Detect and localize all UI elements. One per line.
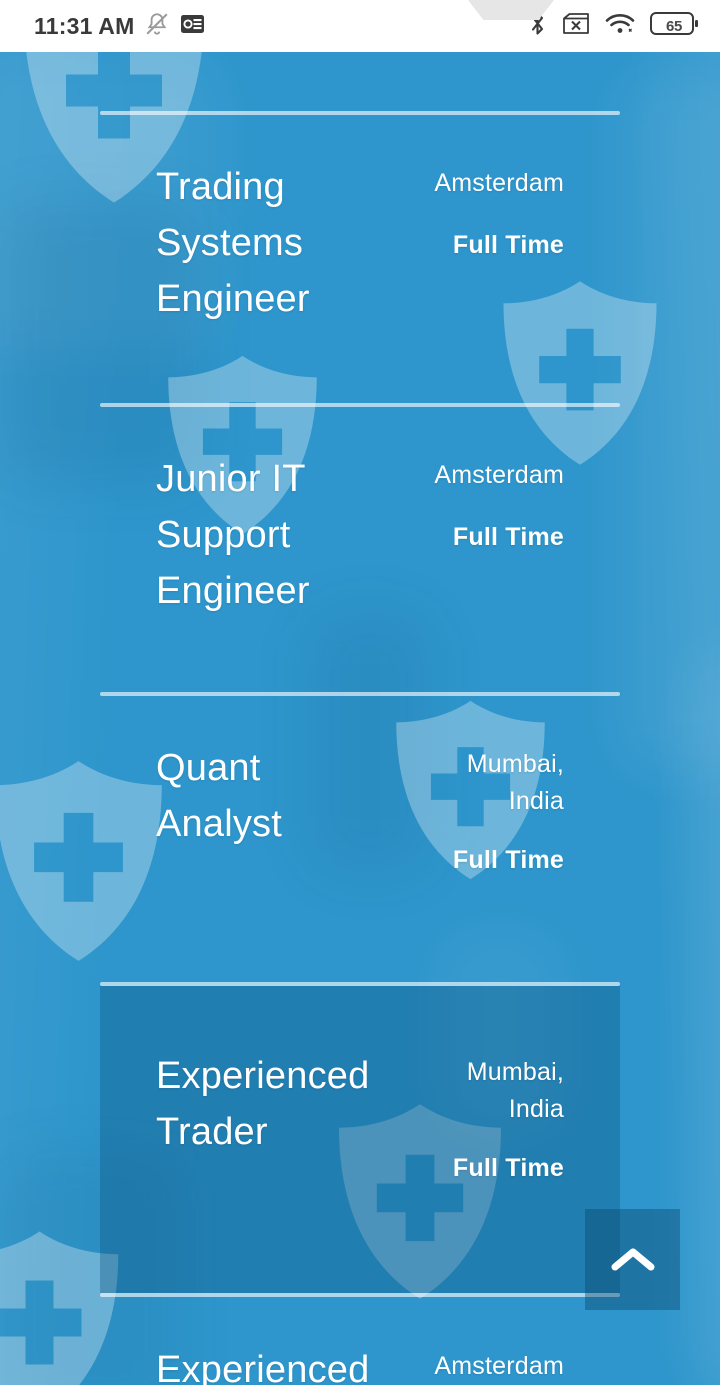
job-meta: Amsterdam bbox=[414, 1348, 564, 1385]
job-title: Quant Analyst bbox=[156, 740, 356, 852]
job-meta: Mumbai, India Full Time bbox=[414, 746, 564, 875]
battery-level-label: 65 bbox=[650, 11, 698, 41]
job-type: Full Time bbox=[414, 231, 564, 260]
job-title: Experienced bbox=[156, 1342, 369, 1385]
job-list-item[interactable]: Experienced Amsterdam bbox=[100, 1297, 620, 1385]
job-meta: Amsterdam Full Time bbox=[414, 457, 564, 552]
job-list-item[interactable]: Trading Systems Engineer Amsterdam Full … bbox=[100, 115, 620, 368]
job-meta: Amsterdam Full Time bbox=[414, 165, 564, 260]
chevron-up-icon bbox=[610, 1245, 656, 1275]
job-list-item[interactable]: Junior IT Support Engineer Amsterdam Ful… bbox=[100, 407, 620, 660]
status-bar-left: 11:31 AM bbox=[34, 11, 205, 42]
job-meta: Mumbai, India Full Time bbox=[414, 1054, 564, 1183]
job-location: Amsterdam bbox=[414, 1348, 564, 1385]
battery-icon: 65 bbox=[650, 11, 698, 41]
phone-screen: 11:31 AM bbox=[0, 0, 720, 1385]
bell-muted-icon bbox=[144, 11, 170, 42]
job-location: Mumbai, India bbox=[444, 1054, 564, 1127]
job-location: Mumbai, India bbox=[444, 746, 564, 819]
job-title: Trading Systems Engineer bbox=[156, 159, 406, 328]
wifi-icon bbox=[605, 12, 635, 41]
job-location: Amsterdam bbox=[414, 165, 564, 202]
careers-page-background: Trading Systems Engineer Amsterdam Full … bbox=[0, 52, 720, 1385]
job-location: Amsterdam bbox=[414, 457, 564, 494]
status-bar-right: 65 bbox=[528, 10, 698, 42]
contact-card-icon bbox=[180, 14, 205, 39]
job-type: Full Time bbox=[414, 1154, 564, 1183]
job-title: Junior IT Support Engineer bbox=[156, 451, 406, 620]
job-list-item-selected[interactable]: Experienced Trader Mumbai, India Full Ti… bbox=[100, 986, 620, 1293]
no-sim-icon bbox=[562, 12, 590, 41]
job-title: Experienced Trader bbox=[156, 1048, 414, 1160]
job-listings: Trading Systems Engineer Amsterdam Full … bbox=[0, 52, 720, 1385]
status-bar: 11:31 AM bbox=[0, 0, 720, 52]
job-type: Full Time bbox=[414, 523, 564, 552]
job-type: Full Time bbox=[414, 846, 564, 875]
job-list-item[interactable]: Quant Analyst Mumbai, India Full Time bbox=[100, 696, 620, 915]
clock-label: 11:31 AM bbox=[34, 13, 134, 40]
scroll-to-top-button[interactable] bbox=[585, 1209, 680, 1310]
